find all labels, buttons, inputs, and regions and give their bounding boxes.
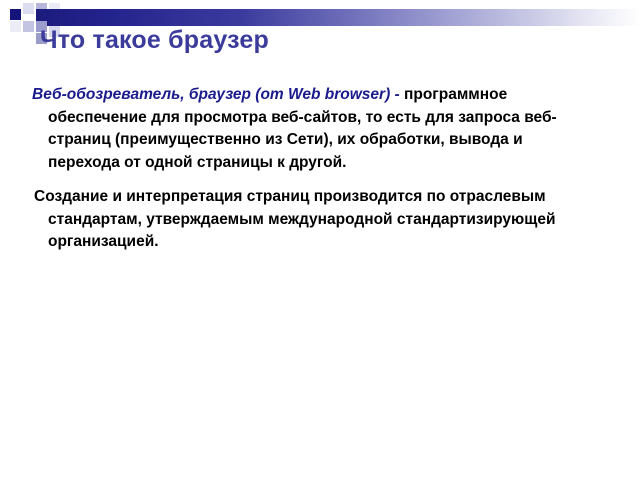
square-very-pale <box>10 21 21 32</box>
slide-body: Веб-обозреватель, браузер (от Web browse… <box>28 84 588 260</box>
paragraph-standards: Создание и интерпретация страниц произво… <box>28 186 588 254</box>
square-pale-lavender <box>23 3 34 14</box>
square-dark-navy <box>10 9 21 20</box>
page-title: Что такое браузер <box>40 26 269 55</box>
square-light-lavender <box>23 21 34 32</box>
standards-body-text: Создание и интерпретация страниц произво… <box>34 188 556 250</box>
gradient-bar <box>36 9 640 26</box>
presentation-slide: Что такое браузер Веб-обозреватель, брау… <box>0 0 640 480</box>
square-near-white <box>49 3 60 9</box>
definition-lead-term: Веб-обозреватель, браузер (от Web browse… <box>32 86 404 103</box>
square-white <box>23 33 34 44</box>
paragraph-definition: Веб-обозреватель, браузер (от Web browse… <box>28 84 588 174</box>
square-muted-lavender <box>36 3 47 9</box>
